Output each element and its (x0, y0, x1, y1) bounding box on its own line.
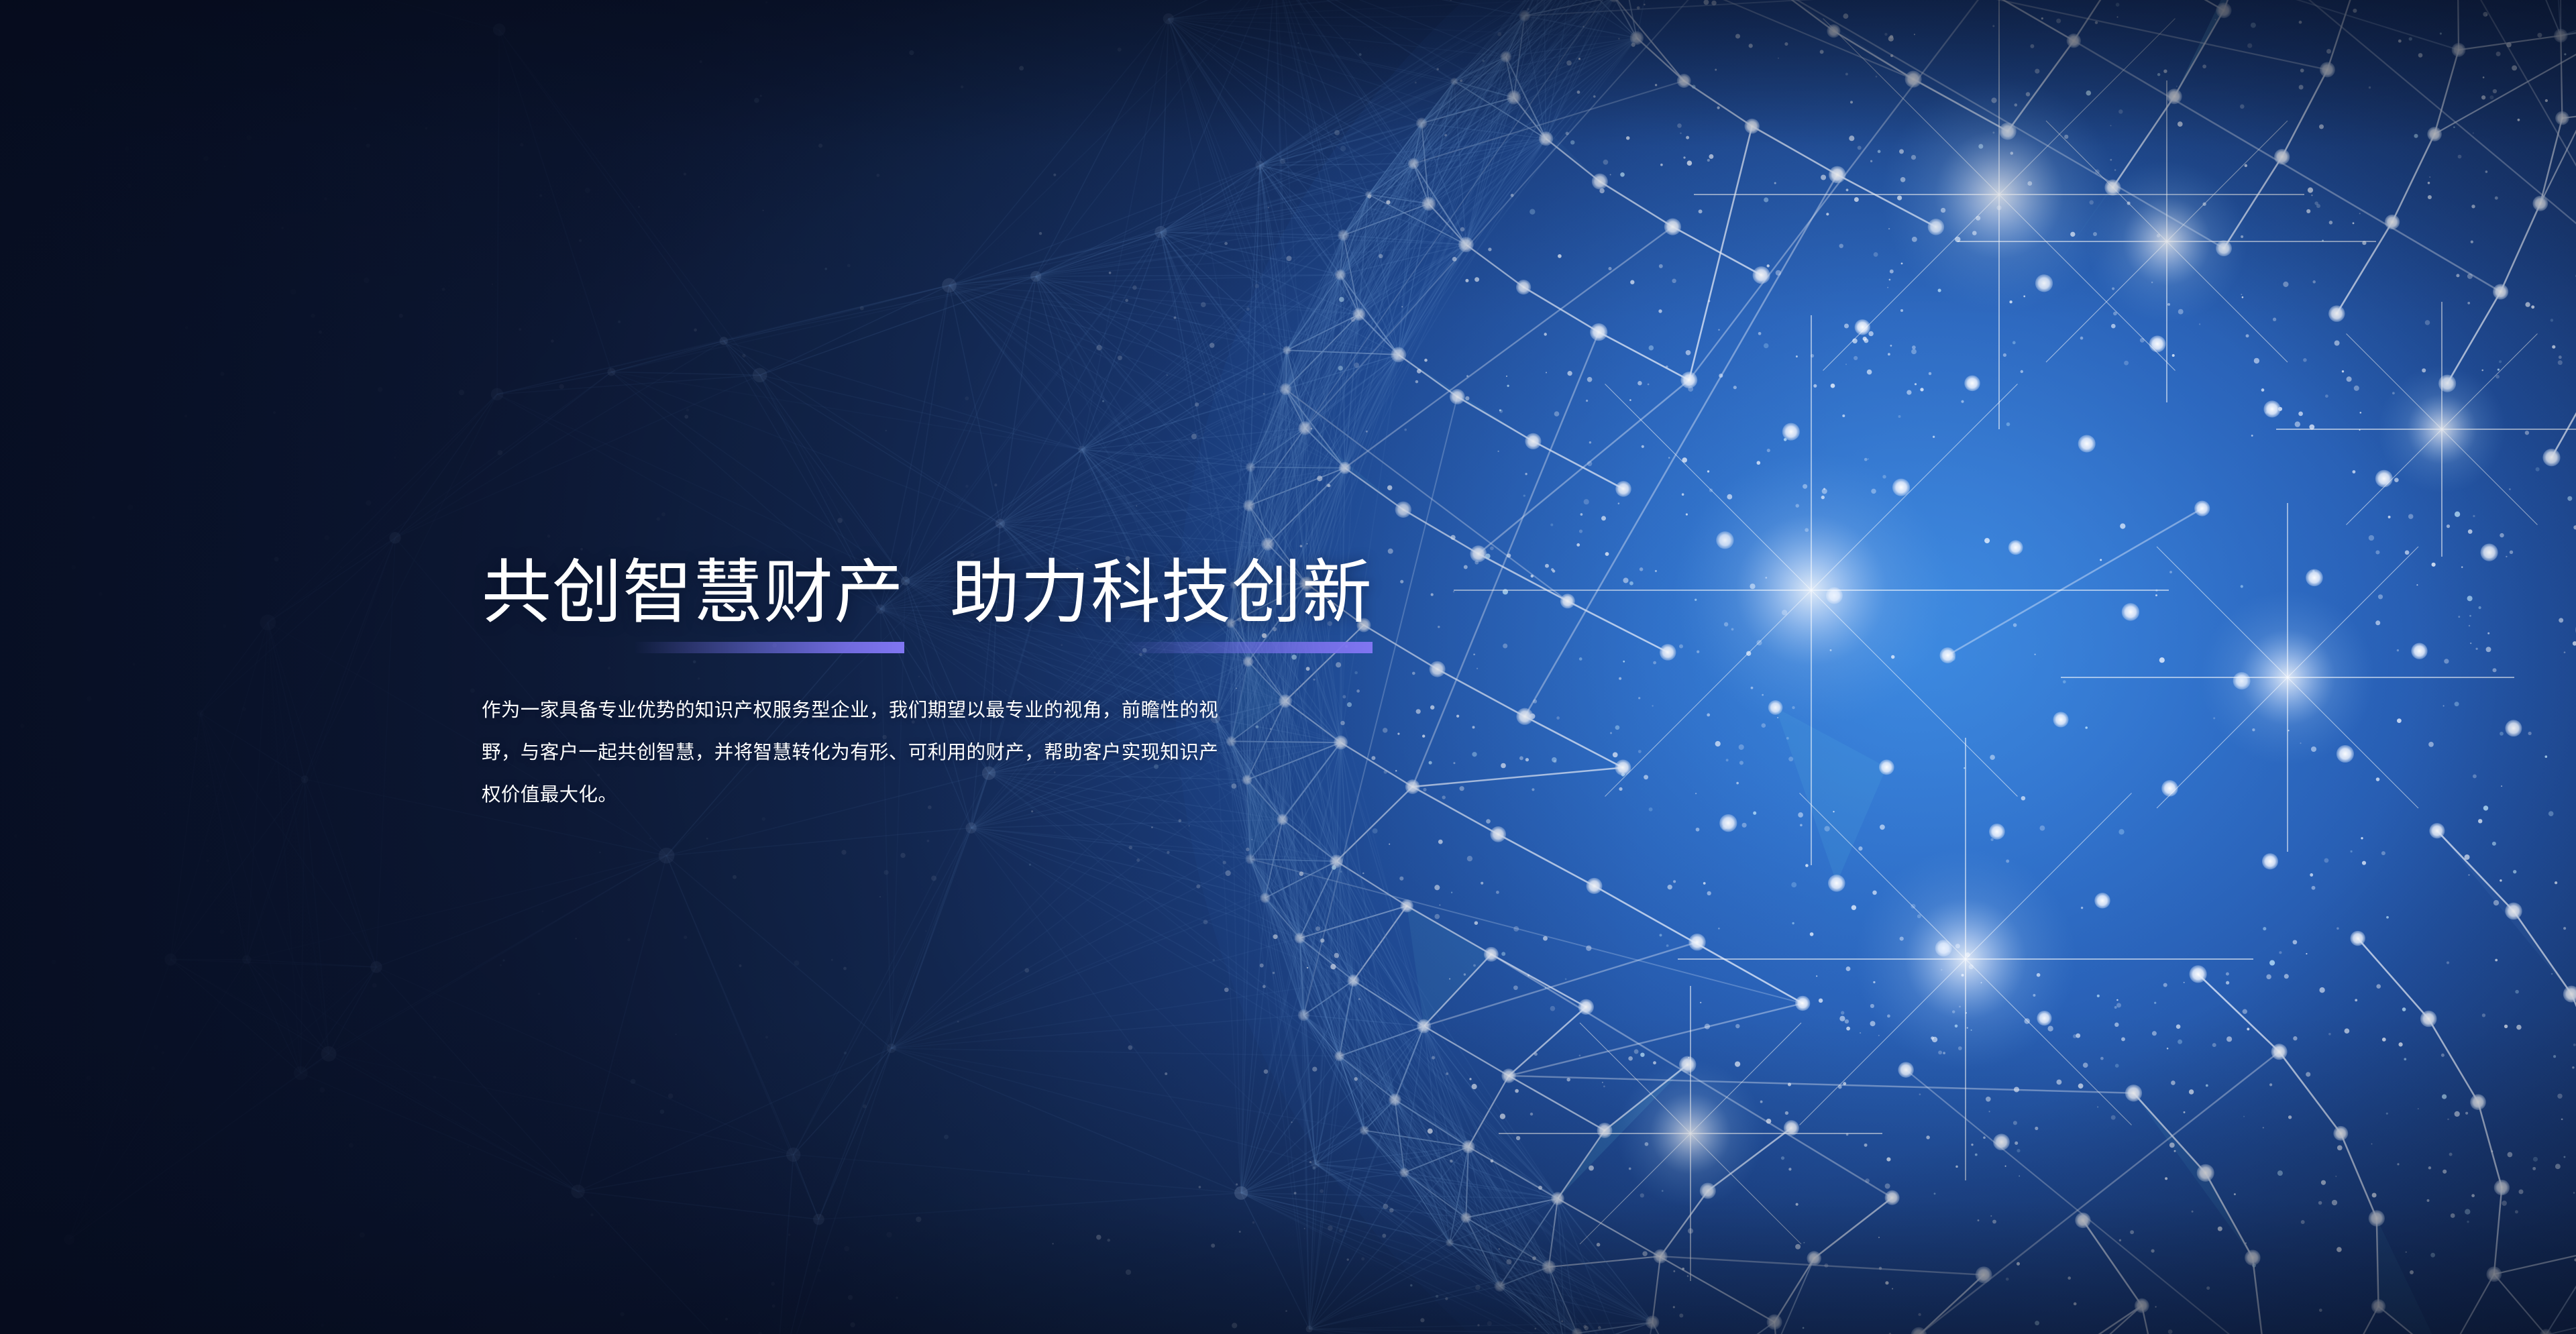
headline-segment-1: 共创智慧财产 (482, 555, 904, 630)
headline-segment-2: 助力科技创新 (950, 555, 1373, 630)
page-title: 共创智慧财产 助力科技创新 (482, 555, 1488, 630)
headline-accent-underline-1 (634, 642, 904, 653)
hero-banner: 共创智慧财产 助力科技创新 作为一家具备专业优势的知识产权服务型企业，我们期望以… (0, 0, 2576, 1334)
headline-segment-2-text: 助力科技创新 (950, 554, 1373, 632)
hero-description: 作为一家具备专业优势的知识产权服务型企业，我们期望以最专业的视角，前瞻性的视野，… (482, 689, 1233, 816)
headline-segment-1-text: 共创智慧财产 (482, 554, 904, 632)
hero-content: 共创智慧财产 助力科技创新 作为一家具备专业优势的知识产权服务型企业，我们期望以… (482, 555, 1488, 836)
headline-accent-underline-2 (1123, 642, 1373, 653)
